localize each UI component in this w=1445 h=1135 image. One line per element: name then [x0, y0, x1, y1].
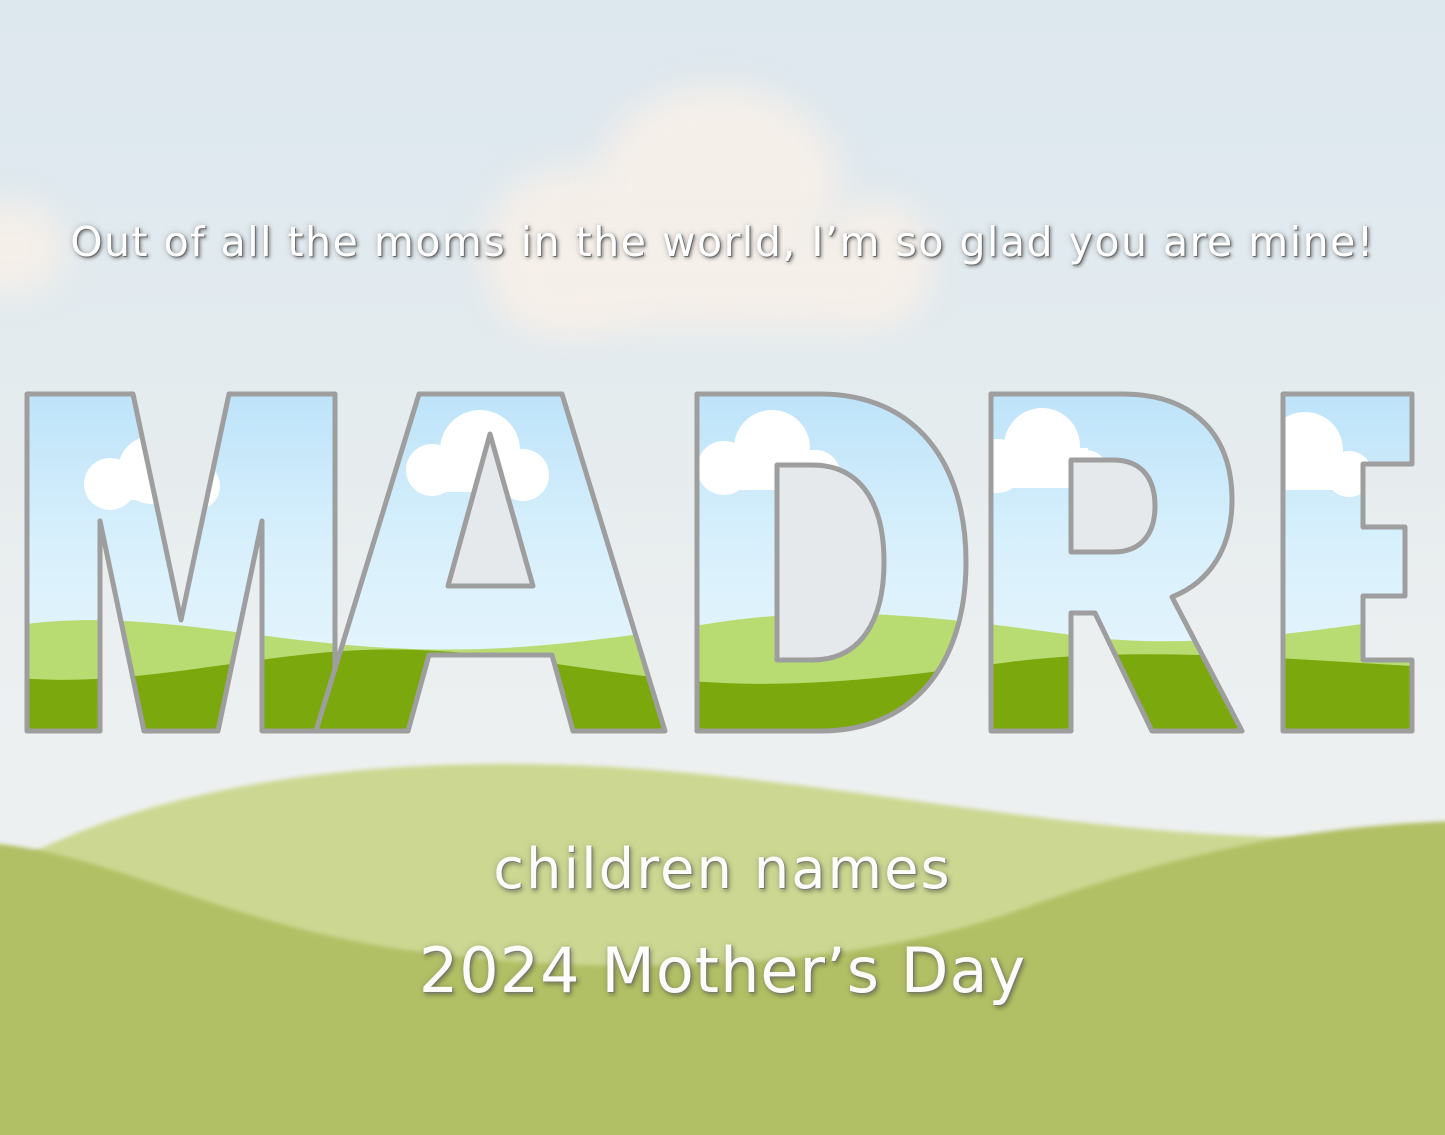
tagline-text: Out of all the moms in the world, I’m so…	[0, 218, 1445, 266]
mothers-day-card: Out of all the moms in the world, I’m so…	[0, 0, 1445, 1135]
children-names-text: children names	[0, 842, 1445, 898]
occasion-text: 2024 Mother’s Day	[0, 940, 1445, 1002]
footer-block: children names 2024 Mother’s Day	[0, 842, 1445, 1002]
